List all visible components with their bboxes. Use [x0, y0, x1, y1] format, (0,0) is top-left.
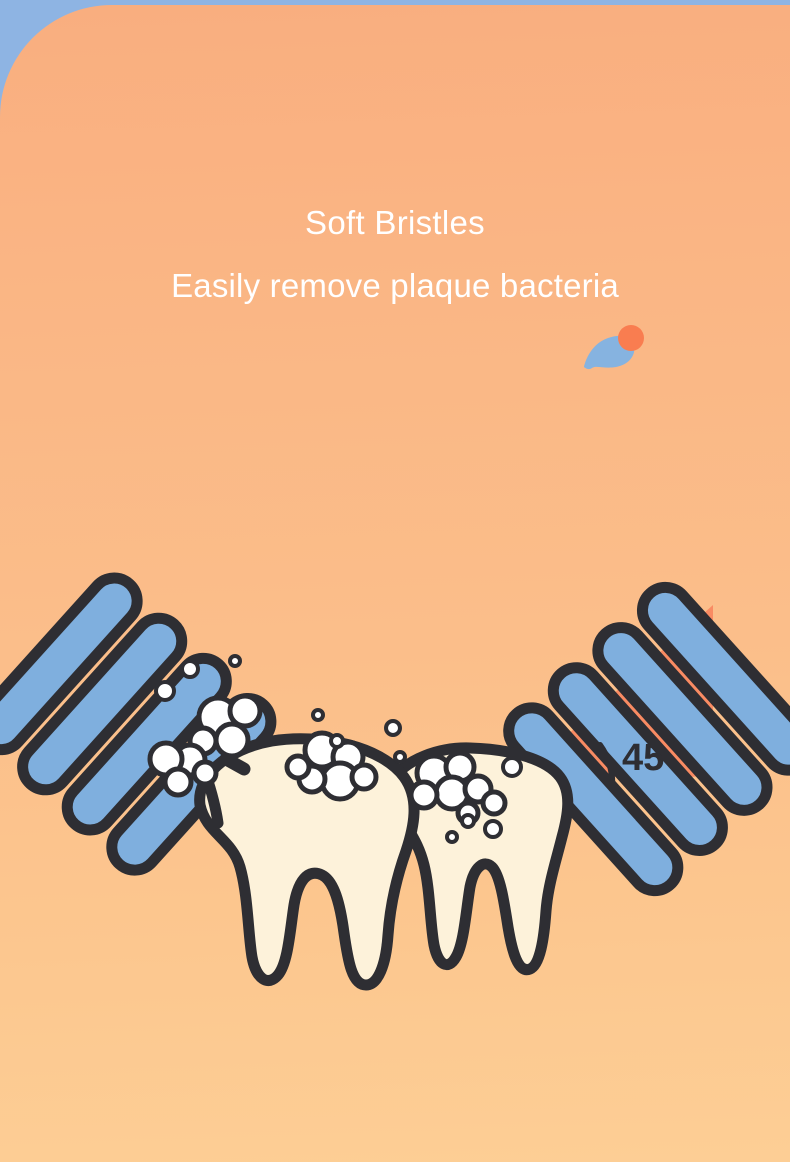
plaque-streak: [226, 759, 244, 769]
bubble: [395, 752, 405, 762]
bubble: [313, 710, 323, 720]
illustration-toothbrush-teeth: 45 °: [0, 545, 790, 1015]
bubble: [230, 656, 240, 666]
bubble: [386, 721, 400, 735]
bubble: [156, 682, 174, 700]
bubble: [447, 832, 457, 842]
bubble: [485, 821, 501, 837]
text-block: Soft Bristles Easily remove plaque bacte…: [0, 201, 790, 308]
promo-card: Soft Bristles Easily remove plaque bacte…: [0, 5, 790, 1162]
circle-dot: [618, 325, 644, 351]
decorative-badge: [578, 321, 648, 373]
page-root: Soft Bristles Easily remove plaque bacte…: [0, 0, 790, 1162]
bubble: [331, 735, 343, 747]
bubble: [182, 661, 198, 677]
bubble: [503, 758, 521, 776]
bubble: [462, 815, 474, 827]
angle-value: 45: [622, 737, 664, 779]
page-subtitle: Easily remove plaque bacteria: [0, 264, 790, 308]
page-title: Soft Bristles: [0, 201, 790, 245]
degree-symbol: °: [666, 729, 676, 759]
